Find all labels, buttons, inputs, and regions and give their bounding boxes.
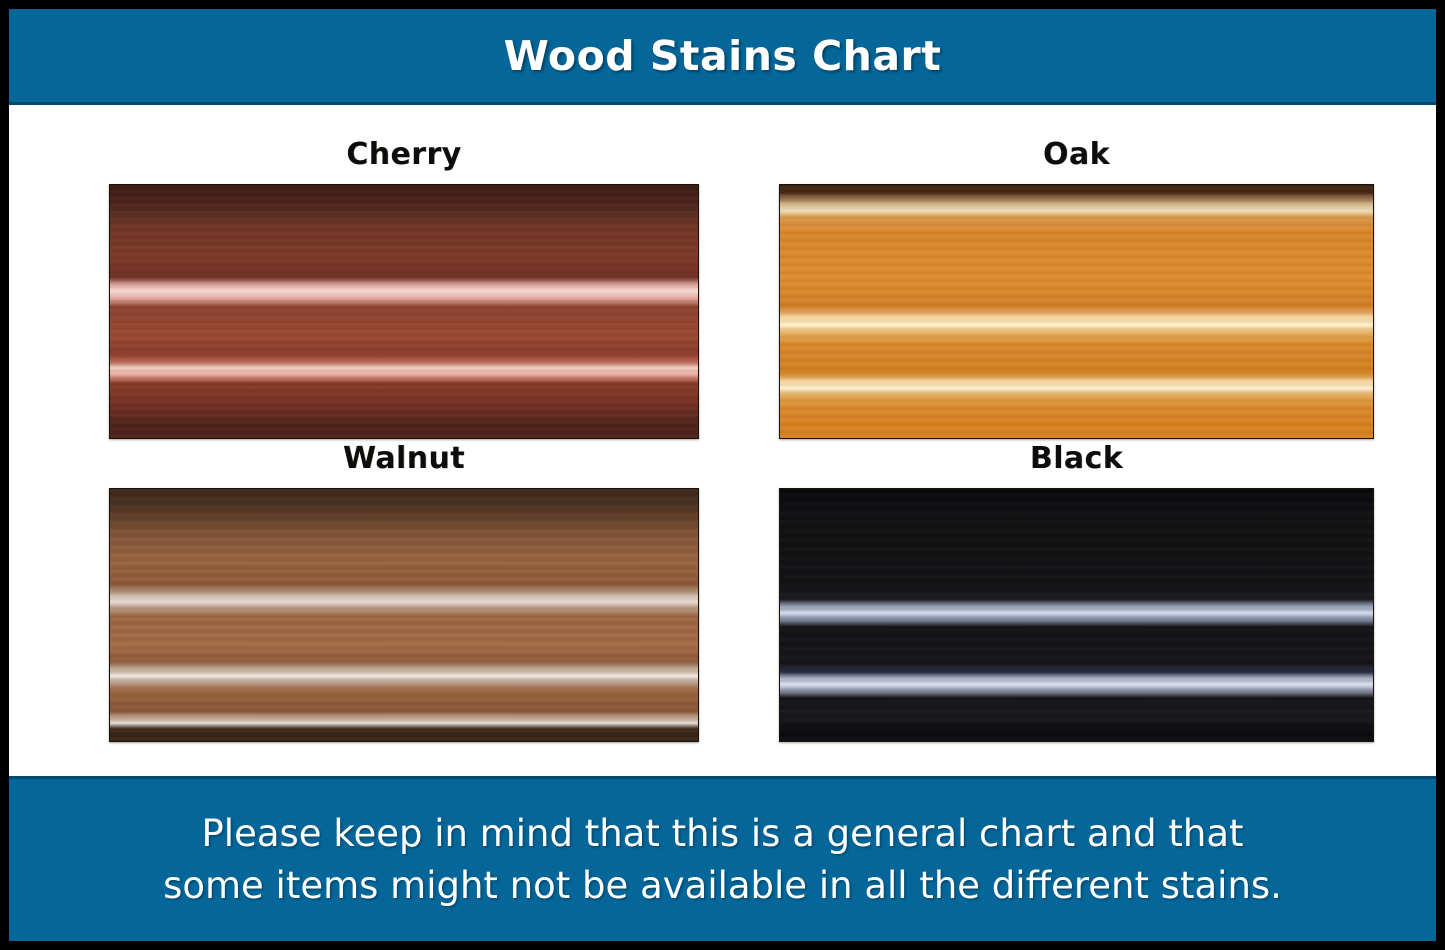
swatch-cell-cherry: Cherry (109, 135, 699, 439)
footer-line-2: some items might not be available in all… (163, 860, 1282, 912)
swatch-label-walnut: Walnut (109, 439, 699, 479)
wood-grain-texture-black (780, 489, 1373, 742)
page-title: Wood Stains Chart (504, 32, 942, 80)
swatch-oak[interactable] (779, 184, 1374, 439)
footer-disclaimer: Please keep in mind that this is a gener… (163, 808, 1282, 912)
swatch-black[interactable] (779, 488, 1374, 743)
chart-header: Wood Stains Chart (9, 9, 1436, 105)
chart-footer: Please keep in mind that this is a gener… (9, 776, 1436, 941)
swatch-area: Cherry Oak Walnut Black (9, 105, 1436, 776)
swatch-cherry[interactable] (109, 184, 699, 439)
wood-stains-chart-card: Wood Stains Chart Cherry Oak Walnut (0, 0, 1445, 950)
swatch-cell-walnut: Walnut (109, 439, 699, 743)
wood-grain-texture-walnut (110, 489, 698, 742)
swatch-cell-oak: Oak (779, 135, 1374, 439)
footer-line-1: Please keep in mind that this is a gener… (163, 808, 1282, 860)
wood-grain-texture-oak (780, 185, 1373, 438)
swatch-label-black: Black (779, 439, 1374, 479)
wood-grain-texture-cherry (110, 185, 698, 438)
swatch-grid: Cherry Oak Walnut Black (109, 135, 1374, 742)
swatch-label-cherry: Cherry (109, 135, 699, 175)
swatch-cell-black: Black (779, 439, 1374, 743)
swatch-walnut[interactable] (109, 488, 699, 743)
swatch-label-oak: Oak (779, 135, 1374, 175)
